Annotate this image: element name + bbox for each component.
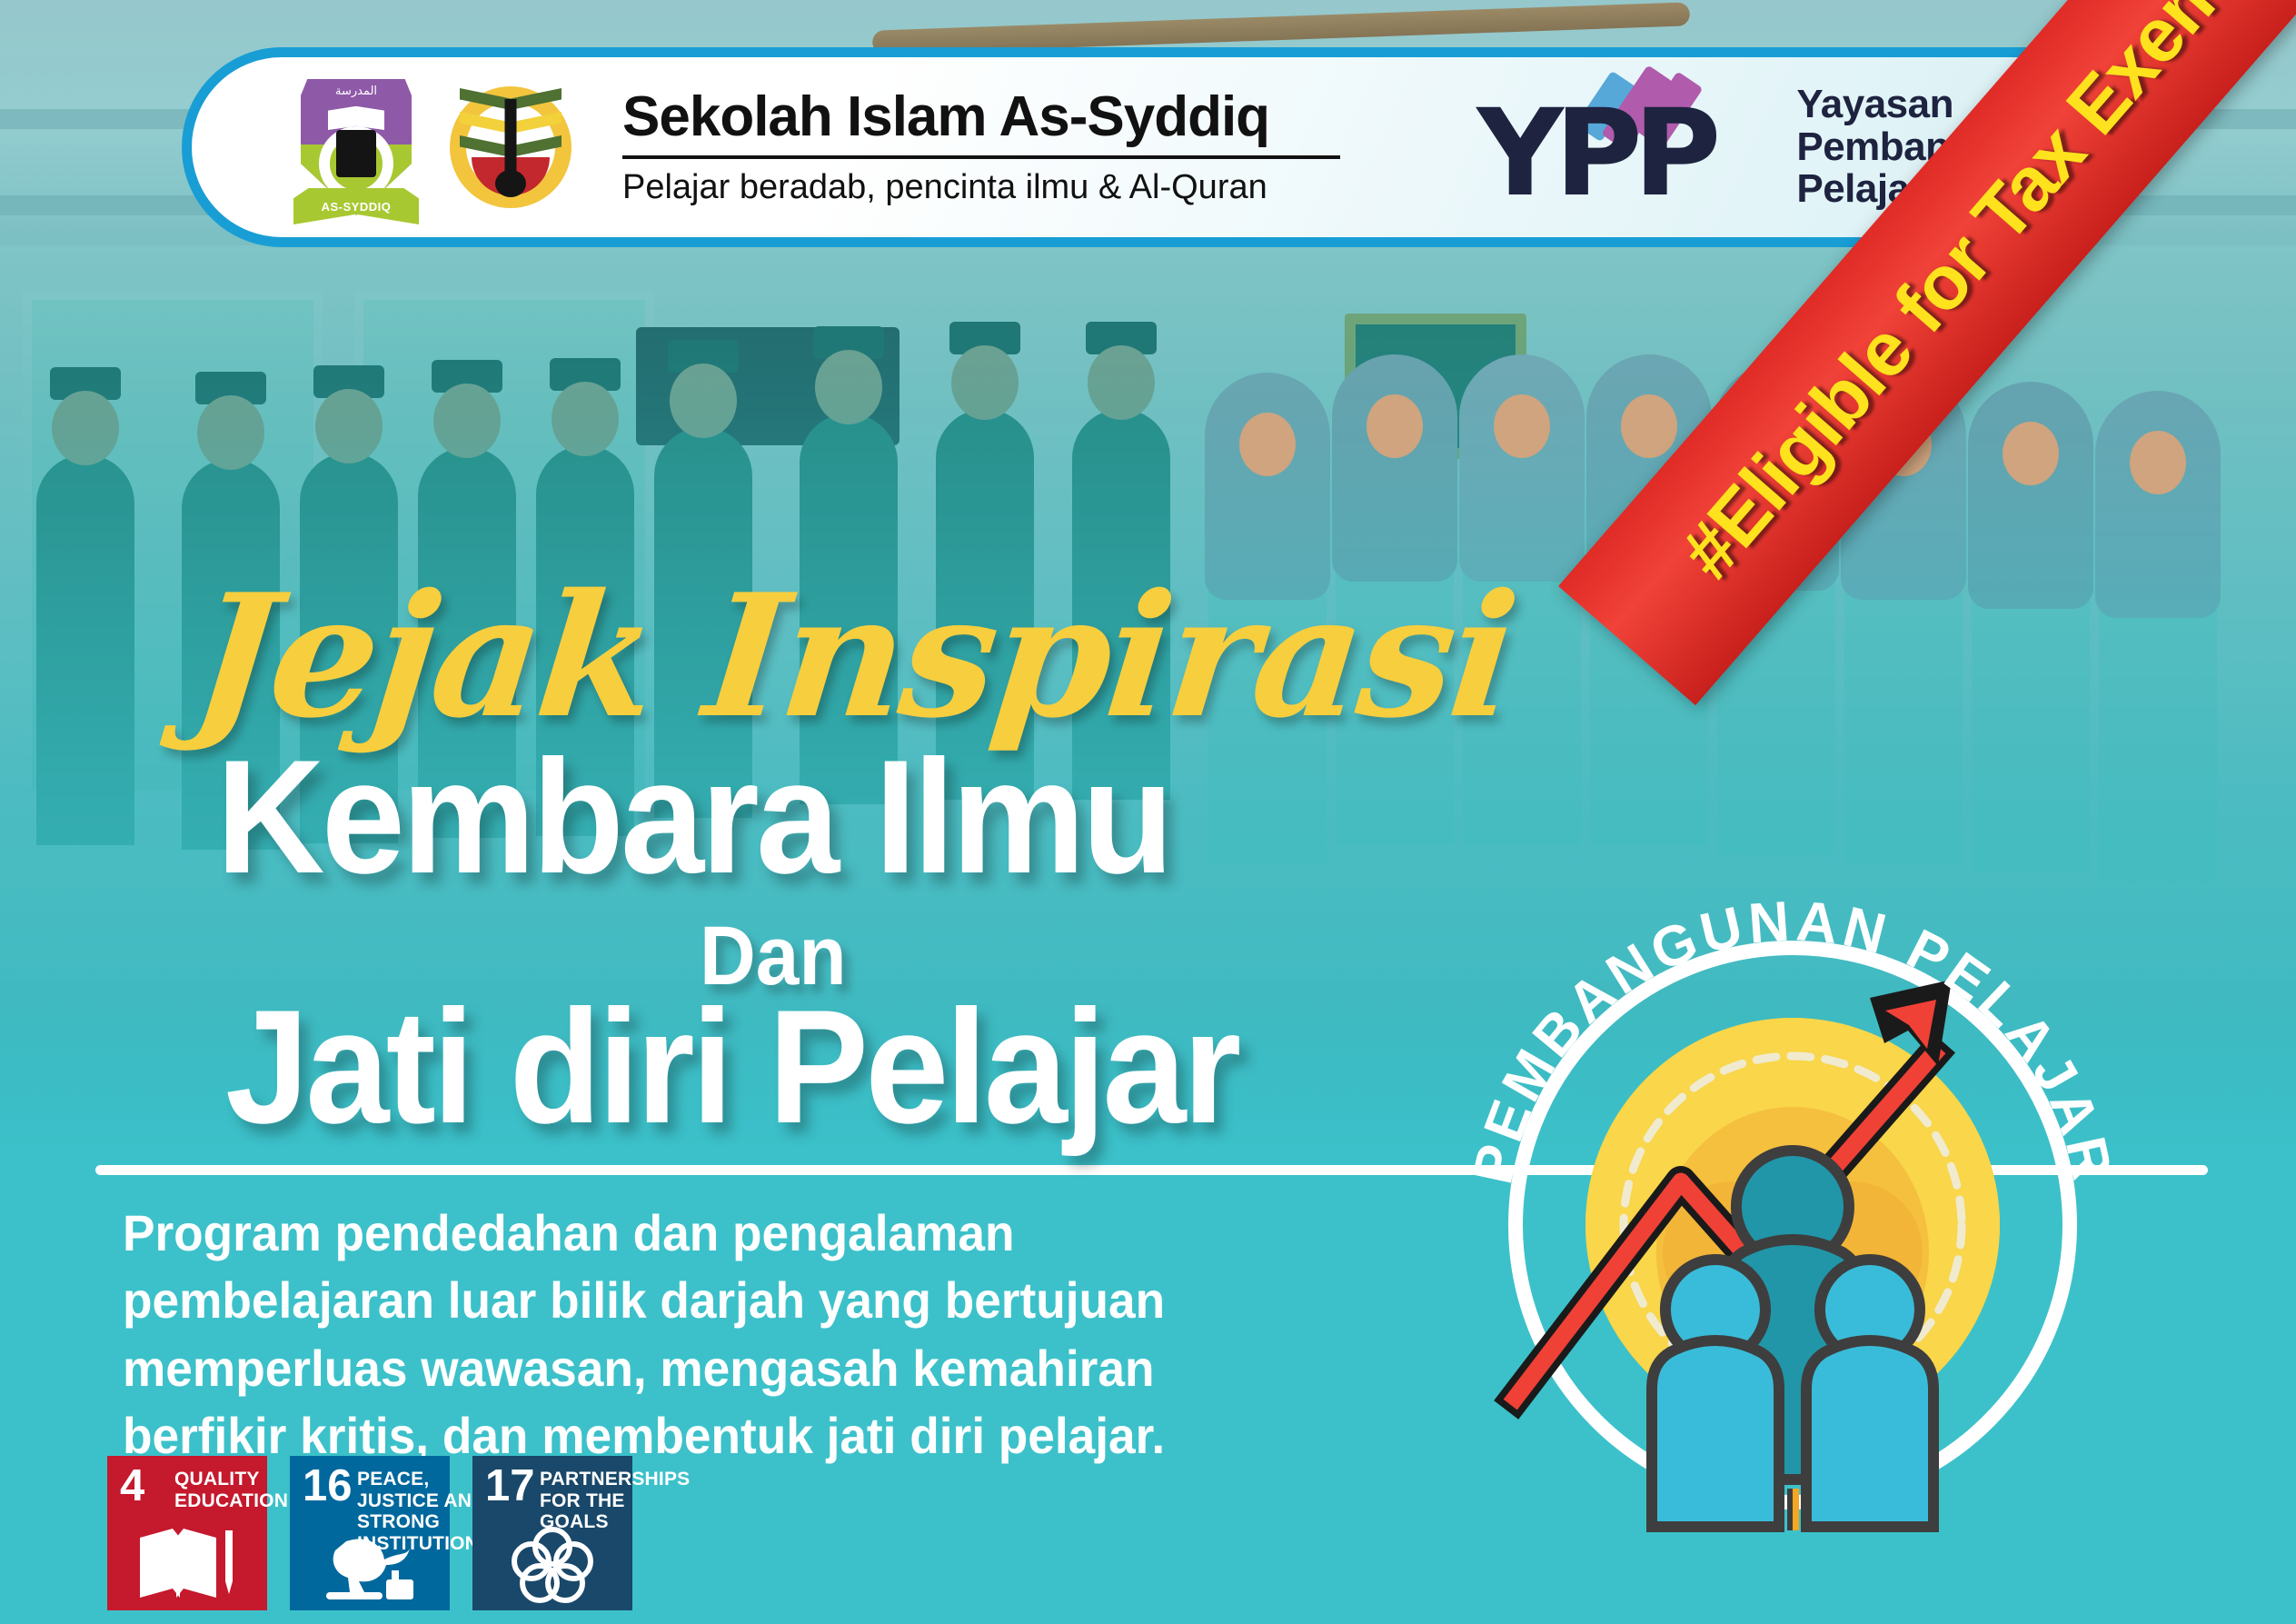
poster-canvas: المدرسة AS-SYDDIQ Sekolah Islam As-Syddi… <box>0 0 2296 1624</box>
description-line-2: pembelajaran luar bilik darjah yang bert… <box>123 1267 1271 1334</box>
school-name: Sekolah Islam As-Syddiq <box>622 87 1340 146</box>
ypp-logo-icon: YPP <box>1476 79 1776 215</box>
sdg-badge-number: 16 <box>303 1466 353 1507</box>
school-crest-secondary-icon <box>442 79 579 215</box>
description-line-1: Program pendedahan dan pengalaman <box>123 1200 1271 1267</box>
interlocking-circles-icon <box>472 1525 632 1603</box>
ypp-letters: YPP <box>1476 94 1712 214</box>
sdg-badge-16: 16 PEACE, JUSTICE AND STRONG INSTITUTION… <box>290 1456 450 1610</box>
sdg-badge-4: 4 QUALITY EDUCATION <box>107 1456 267 1610</box>
sdg-badge-number: 17 <box>485 1466 535 1507</box>
sdg-badge-17: 17 PARTNERSHIPS FOR THE GOALS <box>472 1456 632 1610</box>
sdg-badge-title: PARTNERSHIPS FOR THE GOALS <box>540 1469 690 1533</box>
headline-line-1: Kembara Ilmu <box>216 736 1170 898</box>
school-name-rule <box>622 155 1340 159</box>
program-description: Program pendedahan dan pengalaman pembel… <box>123 1200 1271 1470</box>
school-identity-block: Sekolah Islam As-Syddiq Pelajar beradab,… <box>622 87 1340 207</box>
sdg-badge-row: 4 QUALITY EDUCATION 16 PEACE, JUSTICE AN… <box>107 1456 632 1610</box>
dove-and-gavel-icon <box>290 1536 450 1603</box>
header-panel: المدرسة AS-SYDDIQ Sekolah Islam As-Syddi… <box>182 47 2126 247</box>
description-line-3: memperluas wawasan, mengasah kemahiran <box>123 1335 1271 1402</box>
school-crest-primary-icon: المدرسة AS-SYDDIQ <box>301 79 412 215</box>
crest-primary-label: AS-SYDDIQ <box>322 200 392 214</box>
school-tagline: Pelajar beradab, pencinta ilmu & Al-Qura… <box>622 168 1340 207</box>
sdg-badge-number: 4 <box>120 1466 144 1507</box>
sdg-badge-title: QUALITY EDUCATION <box>174 1469 288 1511</box>
pembangunan-pelajar-emblem: PEMBANGUNAN PELAJAR <box>1443 862 2142 1561</box>
open-book-and-pencil-icon <box>107 1525 267 1603</box>
headline-line-3: Jati diri Pelajar <box>225 986 1238 1148</box>
